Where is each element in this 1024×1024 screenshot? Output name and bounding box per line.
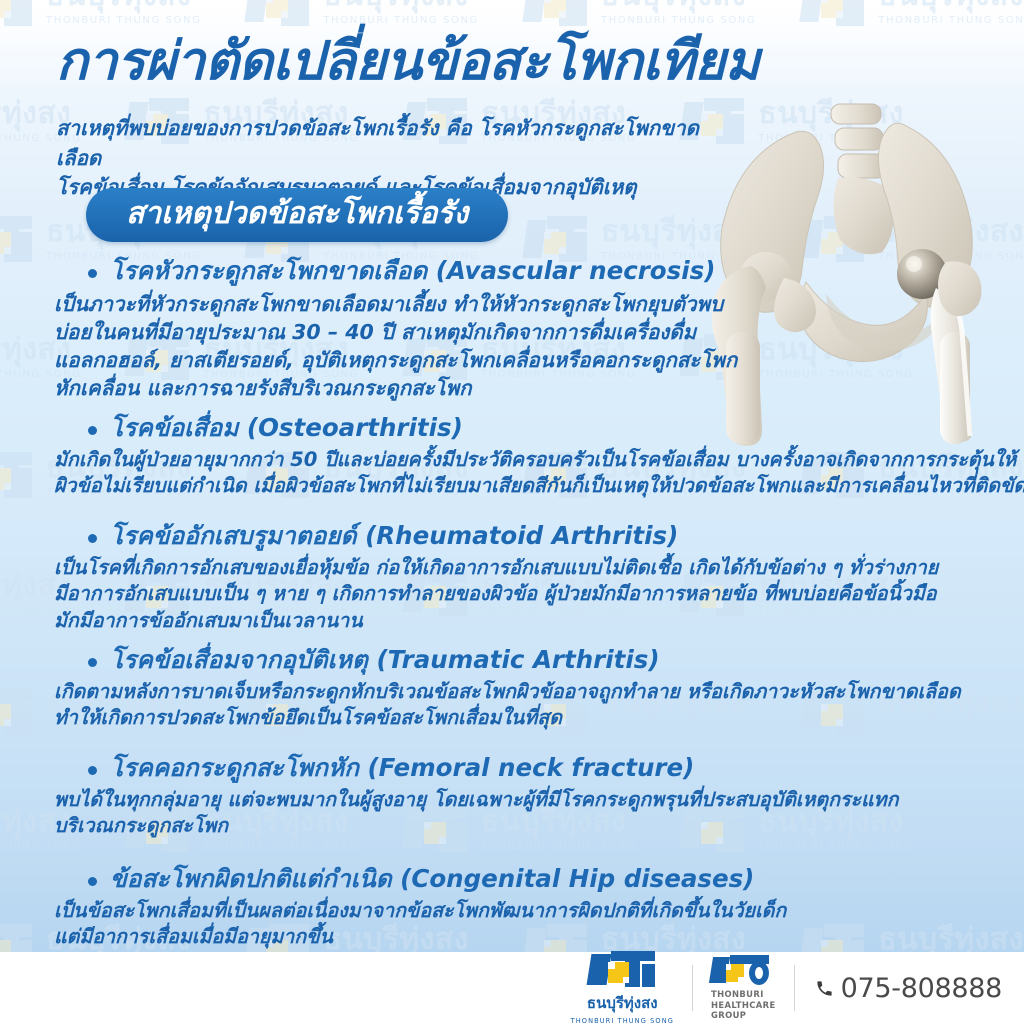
watermark-th-icon	[0, 452, 32, 498]
section-body-line: เป็นภาวะที่หัวกระดูกสะโพกขาดเลือดมาเลี้ย…	[54, 290, 737, 318]
section-body: เป็นข้อสะโพกเสื่อมที่เป็นผลต่อเนื่องมาจา…	[54, 898, 786, 952]
group-line-1: THONBURI	[711, 989, 776, 1000]
watermark-th-icon	[525, 0, 587, 26]
watermark-text-en: THONBURI THUNG SONG	[323, 16, 478, 26]
bullet-icon	[88, 426, 97, 435]
hospital-name-th: ธนบุรีทุ่งสง	[587, 991, 658, 1015]
watermark-logo: ธนบุรีทุ่งสงTHONBURI THUNG SONG	[802, 0, 1024, 26]
infographic-poster: ธนบุรีทุ่งสงTHONBURI THUNG SONGธนบุรีทุ่…	[0, 0, 1024, 1024]
bullet-icon	[88, 766, 97, 775]
section-heading: โรคหัวกระดูกสะโพกขาดเลือด (Avascular nec…	[54, 256, 737, 287]
watermark-logo: ธนบุรีทุ่งสงTHONBURI THUNG SONG	[0, 0, 201, 26]
watermark-text-en: THONBURI THUNG SONG	[0, 842, 81, 852]
bullet-icon	[88, 269, 97, 278]
medical-cross-icon	[608, 962, 629, 983]
section-body-line: เกิดตามหลังการบาดเจ็บหรือกระดูกหักบริเวณ…	[54, 679, 961, 706]
section-body-line: เป็นข้อสะโพกเสื่อมที่เป็นผลต่อเนื่องมาจา…	[54, 898, 786, 925]
watermark-text-en: THONBURI THUNG SONG	[878, 16, 1024, 26]
watermark-text-th: ธนบุรีทุ่งสง	[601, 0, 756, 11]
section-heading-text: โรคข้อเสื่อมจากอุบัติเหตุ (Traumatic Art…	[110, 645, 660, 674]
th-logo-icon	[589, 951, 655, 987]
section-body-line: แต่มีอาการเสื่อมเมื่อมีอายุมากขึ้น	[54, 924, 786, 951]
phone-number: 075-808888	[841, 973, 1002, 1004]
section-body-line: ทำให้เกิดการปวดสะโพกข้อยึดเป็นโรคข้อสะโพ…	[54, 705, 961, 732]
section-heading-text: โรคหัวกระดูกสะโพกขาดเลือด (Avascular nec…	[110, 256, 715, 285]
watermark-text-th: ธนบุรีทุ่งสง	[323, 0, 478, 11]
disease-section: ข้อสะโพกผิดปกติแต่กำเนิด (Congenital Hip…	[54, 864, 786, 951]
watermark-th-icon	[0, 216, 32, 262]
section-body-line: บ่อยในคนที่มีอายุประมาณ 30 – 40 ปี สาเหต…	[54, 318, 737, 346]
watermark-logo: ธนบุรีทุ่งสงTHONBURI THUNG SONG	[525, 0, 756, 26]
hospital-name-en: THONBURI THUNG SONG	[571, 1017, 674, 1024]
section-heading: โรคข้อเสื่อมจากอุบัติเหตุ (Traumatic Art…	[54, 645, 961, 676]
section-body: มักเกิดในผู้ป่วยอายุมากกว่า 50 ปีและบ่อย…	[54, 447, 1024, 501]
watermark-logo: ธนบุรีทุ่งสงTHONBURI THUNG SONG	[247, 0, 478, 26]
disease-section: โรคข้ออักเสบรูมาตอยด์ (Rheumatoid Arthri…	[54, 521, 938, 635]
disease-section: โรคข้อเสื่อม (Osteoarthritis)มักเกิดในผู…	[54, 413, 1024, 500]
watermark-th-icon	[0, 688, 32, 734]
group-name-lines: THONBURI HEALTHCARE GROUP	[711, 989, 776, 1021]
section-body-line: มักมีอาการข้ออักเสบมาเป็นเวลานาน	[54, 608, 938, 635]
watermark-text-en: THONBURI THUNG SONG	[481, 842, 636, 852]
phone-icon	[815, 979, 834, 998]
section-body-line: เป็นโรคที่เกิดการอักเสบของเยื่อหุ้มข้อ ก…	[54, 555, 938, 582]
medical-cross-icon	[726, 964, 744, 982]
section-heading-text: โรคคอกระดูกสะโพกหัก (Femoral neck fractu…	[110, 753, 694, 782]
thonburi-thungsong-logo: ธนบุรีทุ่งสง THONBURI THUNG SONG	[553, 951, 692, 1024]
section-body: เป็นภาวะที่หัวกระดูกสะโพกขาดเลือดมาเลี้ย…	[54, 290, 737, 402]
section-heading: ข้อสะโพกผิดปกติแต่กำเนิด (Congenital Hip…	[54, 864, 786, 895]
group-line-2: HEALTHCARE	[711, 1000, 776, 1011]
section-heading: โรคข้ออักเสบรูมาตอยด์ (Rheumatoid Arthri…	[54, 521, 938, 552]
section-body-line: ผิวข้อไม่เรียบแต่กำเนิด เมื่อผิวข้อสะโพก…	[54, 473, 1024, 500]
footer-bar: ธนบุรีทุ่งสง THONBURI THUNG SONG THONBUR…	[0, 952, 1024, 1024]
watermark-text-th: ธนบุรีทุ่งสง	[878, 0, 1024, 11]
section-heading: โรคคอกระดูกสะโพกหัก (Femoral neck fractu…	[54, 753, 898, 784]
section-body: เกิดตามหลังการบาดเจ็บหรือกระดูกหักบริเวณ…	[54, 679, 961, 733]
section-pill-badge: สาเหตุปวดข้อสะโพกเรื้อรัง	[86, 188, 508, 242]
section-heading-text: โรคข้ออักเสบรูมาตอยด์ (Rheumatoid Arthri…	[110, 521, 678, 550]
disease-section: โรคคอกระดูกสะโพกหัก (Femoral neck fractu…	[54, 753, 898, 840]
section-body-line: บริเวณกระดูกสะโพก	[54, 813, 898, 840]
section-body-line: มักเกิดในผู้ป่วยอายุมากกว่า 50 ปีและบ่อย…	[54, 447, 1024, 474]
bullet-icon	[88, 658, 97, 667]
bullet-icon	[88, 877, 97, 886]
disease-section: โรคข้อเสื่อมจากอุบัติเหตุ (Traumatic Art…	[54, 645, 961, 732]
watermark-text-en: THONBURI THUNG SONG	[46, 16, 201, 26]
section-body: เป็นโรคที่เกิดการอักเสบของเยื่อหุ้มข้อ ก…	[54, 555, 938, 635]
watermark-th-icon	[247, 0, 309, 26]
watermark-text-en: THONBURI THUNG SONG	[758, 842, 913, 852]
section-body-line: หักเคลื่อน และการฉายรังสีบริเวณกระดูกสะโ…	[54, 374, 737, 402]
lead-line-1: สาเหตุที่พบบ่อยของการปวดข้อสะโพกเรื้อรัง…	[56, 114, 716, 173]
section-body-line: แอลกอฮอล์, ยาสเตียรอยด์, อุบัติเหตุกระดู…	[54, 346, 737, 374]
watermark-row: ธนบุรีทุ่งสงTHONBURI THUNG SONGธนบุรีทุ่…	[0, 0, 1024, 26]
hip-joint-anatomy-with-implant-image	[688, 96, 1024, 446]
contact-phone[interactable]: 075-808888	[795, 973, 1002, 1004]
thg-logo-icon	[711, 955, 769, 985]
watermark-text-th: ธนบุรีทุ่งสง	[46, 0, 201, 11]
watermark-th-icon	[802, 0, 864, 26]
disease-section: โรคหัวกระดูกสะโพกขาดเลือด (Avascular nec…	[54, 256, 737, 402]
section-heading-text: ข้อสะโพกผิดปกติแต่กำเนิด (Congenital Hip…	[110, 864, 754, 893]
watermark-th-icon	[0, 0, 32, 26]
watermark-text-en: THONBURI THUNG SONG	[203, 842, 358, 852]
group-line-3: GROUP	[711, 1010, 776, 1021]
page-title: การผ่าตัดเปลี่ยนข้อสะโพกเทียม	[56, 34, 956, 90]
bullet-icon	[88, 534, 97, 543]
thonburi-healthcare-group-logo: THONBURI HEALTHCARE GROUP	[693, 955, 794, 1021]
watermark-text-en: THONBURI THUNG SONG	[601, 16, 756, 26]
section-body-line: มีอาการอักเสบแบบเป็น ๆ หาย ๆ เกิดการทำลา…	[54, 581, 938, 608]
section-heading-text: โรคข้อเสื่อม (Osteoarthritis)	[110, 413, 463, 442]
section-heading: โรคข้อเสื่อม (Osteoarthritis)	[54, 413, 1024, 444]
section-body-line: พบได้ในทุกกลุ่มอายุ แต่จะพบมากในผู้สูงอา…	[54, 787, 898, 814]
watermark-text-th: ธนบุรีทุ่งสง	[878, 925, 1024, 955]
section-body: พบได้ในทุกกลุ่มอายุ แต่จะพบมากในผู้สูงอา…	[54, 787, 898, 841]
